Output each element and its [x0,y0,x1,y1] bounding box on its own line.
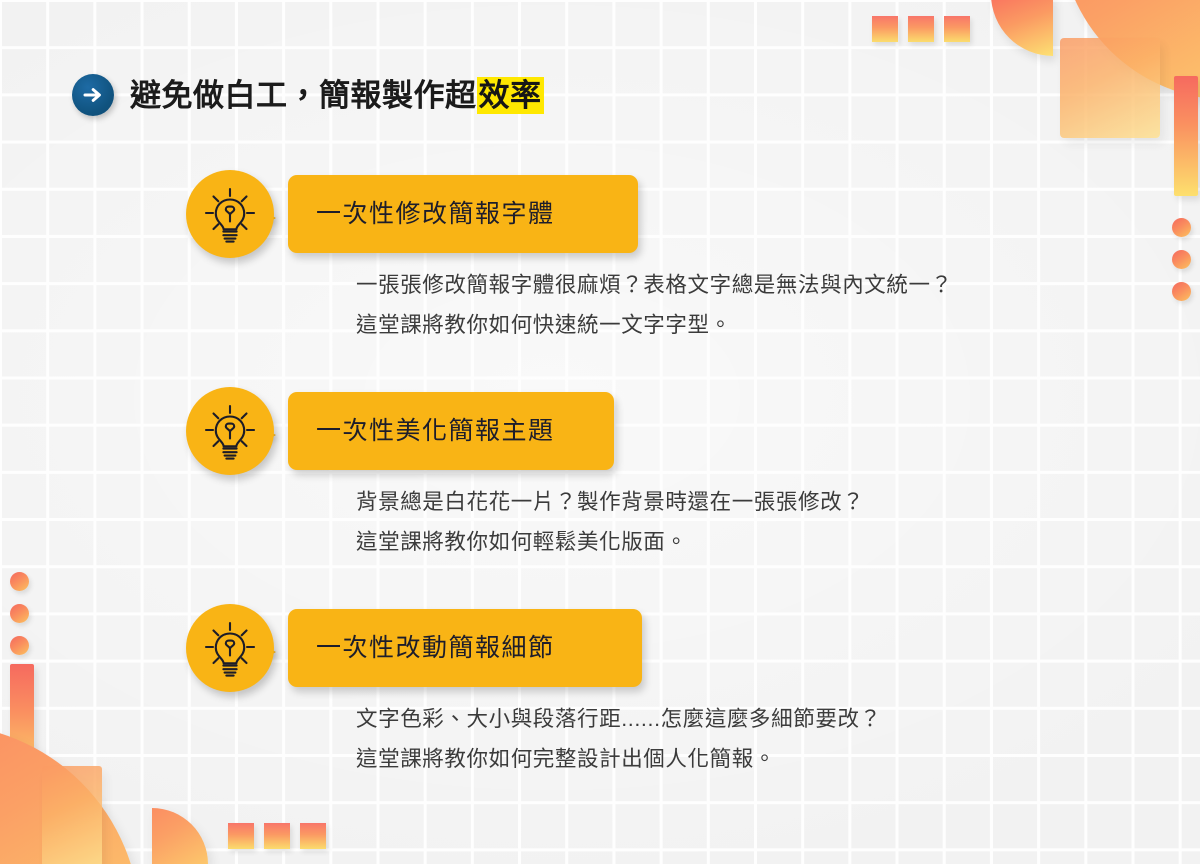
feature-section: 一次性美化簡報主題 背景總是白花花一片？製作背景時還在一張張修改？ 這堂課將教你… [0,387,1200,479]
feature-description-line: 這堂課將教你如何快速統一文字字型。 [356,306,953,346]
feature-card[interactable]: 一次性美化簡報主題 [288,392,614,470]
page-title: 避免做白工，簡報製作超效率 [130,80,544,111]
page-title-highlight: 效率 [477,77,544,114]
feature-description-line: 文字色彩、大小與段落行距......怎麼這麼多細節要改？ [356,700,882,740]
feature-header-row: 一次性改動簡報細節 [0,604,1200,696]
feature-card-title: 一次性美化簡報主題 [316,419,555,444]
feature-description-line: 背景總是白花花一片？製作背景時還在一張張修改？ [356,483,864,523]
feature-card-title: 一次性修改簡報字體 [316,202,555,227]
lightbulb-bubble [186,604,278,696]
lightbulb-icon [200,400,260,462]
feature-description: 背景總是白花花一片？製作背景時還在一張張修改？ 這堂課將教你如何輕鬆美化版面。 [356,483,864,563]
arrow-right-circle-icon [72,74,114,116]
feature-description: 文字色彩、大小與段落行距......怎麼這麼多細節要改？ 這堂課將教你如何完整設… [356,700,882,780]
lightbulb-bubble [186,170,278,262]
feature-header-row: 一次性修改簡報字體 [0,170,1200,262]
lightbulb-icon [200,183,260,245]
feature-header-row: 一次性美化簡報主題 [0,387,1200,479]
page-heading: 避免做白工，簡報製作超效率 [72,74,544,116]
feature-description: 一張張修改簡報字體很麻煩？表格文字總是無法與內文統一？ 這堂課將教你如何快速統一… [356,266,953,346]
lightbulb-icon [200,617,260,679]
feature-card-title: 一次性改動簡報細節 [316,636,555,661]
lightbulb-bubble [186,387,278,479]
slide-canvas: 避免做白工，簡報製作超效率 [0,0,1200,864]
feature-description-line: 一張張修改簡報字體很麻煩？表格文字總是無法與內文統一？ [356,266,953,306]
feature-section: 一次性改動簡報細節 文字色彩、大小與段落行距......怎麼這麼多細節要改？ 這… [0,604,1200,696]
feature-section: 一次性修改簡報字體 一張張修改簡報字體很麻煩？表格文字總是無法與內文統一？ 這堂… [0,170,1200,262]
feature-card[interactable]: 一次性修改簡報字體 [288,175,638,253]
feature-description-line: 這堂課將教你如何完整設計出個人化簡報。 [356,740,882,780]
feature-description-line: 這堂課將教你如何輕鬆美化版面。 [356,523,864,563]
page-title-main: 避免做白工，簡報製作超 [130,78,477,113]
feature-card[interactable]: 一次性改動簡報細節 [288,609,642,687]
